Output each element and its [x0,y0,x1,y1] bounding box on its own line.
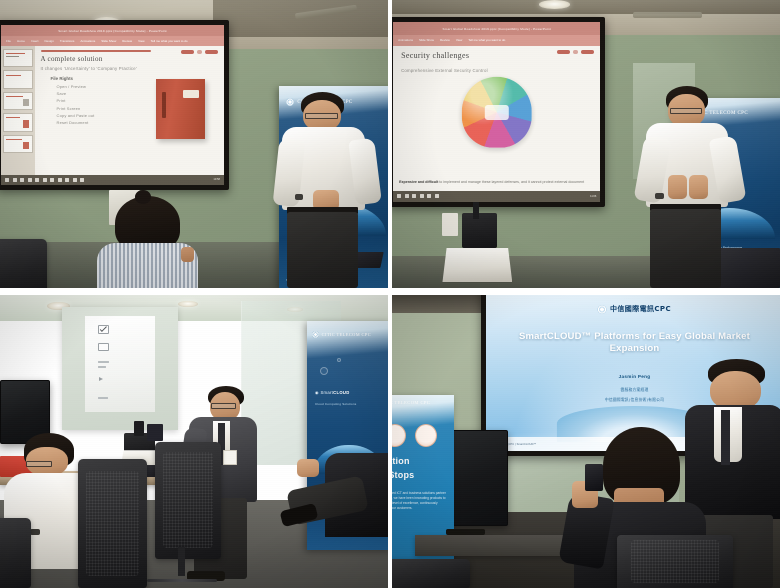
photo-top-right: Smart Global Roadshow 2019.pptx [Compati… [392,0,780,288]
ribbon-tab[interactable]: Slide Show [101,39,116,43]
slide-thumbnail-pane[interactable] [1,46,34,175]
chair [0,518,31,588]
ceiling-dark-strip [213,0,388,37]
taskbar-clock[interactable]: 11:06 [590,195,596,198]
list-icon [98,366,106,368]
ribbon-tab[interactable]: Review [122,39,132,43]
search-icon[interactable] [405,194,409,198]
powerpoint-icon[interactable] [65,178,69,182]
chip [573,50,578,54]
slide-note: Expensive and difficult to implement and… [399,180,594,185]
list-icon [98,397,108,399]
chair-mesh [163,452,213,548]
windows-taskbar[interactable]: 11:06 [393,191,600,203]
powerpoint-window: Smart Global Roadshow 2019.pptx [Compati… [1,25,224,185]
slide-thumbnail[interactable] [3,135,32,153]
browser-icon[interactable] [43,178,47,182]
app-icon[interactable] [58,178,62,182]
ppt-body: Security challenges Comprehensive Extern… [393,46,600,191]
mail-icon[interactable] [35,178,39,182]
chip [557,50,570,54]
glasses-icon [211,403,237,409]
slide-note-rest: to implement and manage these layered de… [439,180,584,184]
citic-logo: 中信國際電訊CPC [598,304,671,314]
wall-mounted-panel [442,213,458,236]
chair-post [178,547,184,576]
list-icon [98,361,109,363]
award-badge [415,424,437,447]
ribbon-tab[interactable]: Slide Show [419,38,434,42]
ribbon-tab-tellme[interactable]: Tell me what you want to do [468,38,505,42]
citic-logo-icon [312,331,319,338]
banner-headline-1: ...vation [392,456,451,466]
gutter-horizontal [0,288,780,295]
award-badge [392,424,406,447]
slide-title: SmartCLOUD™ Platforms for Easy Global Ma… [504,331,765,355]
projector-arm [473,202,479,219]
ppt-titlebar: Smart Global Roadshow 2019.pptx [Compati… [393,22,600,35]
ribbon-tab[interactable]: Animations [80,39,95,43]
ribbon-tab[interactable]: Insert [31,39,39,43]
bubble-decor [337,358,341,362]
ribbon-tab[interactable]: Design [45,39,54,43]
banner-headline-2: ...r Stops [392,470,451,480]
ppt-ribbon: File Home Insert Design Transitions Anim… [1,36,224,46]
security-sphere-graphic [462,77,532,147]
play-icon [99,377,103,381]
taskview-icon[interactable] [20,178,24,182]
photo-top-left: Smart Global Roadshow 2019.pptx [Compati… [0,0,388,288]
ribbon-tab[interactable]: Review [440,38,450,42]
camera-stalk [134,421,144,436]
glasses-icon [26,461,52,467]
name-badge [223,450,237,465]
chair [78,459,148,588]
remote-control [446,529,485,535]
citic-logo-icon [598,305,607,314]
citic-logo-text: 中信國際電訊CPC [610,304,671,314]
photo-collage: Smart Global Roadshow 2019.pptx [Compati… [0,0,780,588]
collage-panel-bottom-left: CITIC TELECOM CPC ◉ SmartCLOUD Cloud Com… [0,295,388,588]
banner-brand-text: CITIC TELECOM CPC [322,332,371,337]
collage-panel-top-right: Smart Global Roadshow 2019.pptx [Compati… [392,0,780,288]
ribbon-tab[interactable]: Home [17,39,25,43]
bubble-decor [320,367,328,375]
app-icon[interactable] [435,194,439,198]
slide-decor-chips [181,50,218,54]
hand-right [689,175,708,199]
ppt-body: A complete solution It changes 'Uncertai… [1,46,224,175]
banner-brand: CITIC TELECOM CPC [392,400,454,405]
attendee-right [295,453,388,588]
banner-brand-text: CITIC TELECOM CPC [392,400,430,405]
wristwatch [655,193,663,199]
chair [155,442,221,559]
slide-canvas: A complete solution It changes 'Uncertai… [35,46,224,175]
app-icon[interactable] [73,178,77,182]
glasses-icon [305,113,338,119]
projector-screen: Smart Global Roadshow 2019.pptx [Compati… [0,20,229,190]
banner-product: ◉ SmartCLOUD [315,390,387,395]
neck [181,247,194,263]
powerpoint-icon[interactable] [427,194,431,198]
hand [297,459,319,478]
ribbon-tab[interactable]: File [6,39,11,43]
chair [617,535,733,588]
slide-title: A complete solution [41,55,218,63]
ceiling-dark-strip [392,0,780,14]
chair [0,239,47,288]
slide-decor-chips [557,50,594,54]
slide-thumbnail[interactable] [3,113,32,131]
chip [205,50,218,54]
ppt-titlebar: Smart Global Roadshow 2019.pptx [Compati… [1,25,224,36]
powerpoint-window: Smart Global Roadshow 2019.pptx [Compati… [393,22,600,202]
slide-subtitle: It changes 'Uncertainty' to 'Company Pra… [41,66,218,71]
projected-slide [85,316,155,413]
banner-brand: CITIC TELECOM CPC [307,331,388,338]
projected-slide: Smart Global Roadshow 2019.pptx [Compati… [1,25,224,185]
projector-screen: Smart Global Roadshow 2019.pptx [Compati… [392,17,605,207]
chair-base [147,579,217,582]
head [710,371,760,410]
photo-bottom-right: 中信國際電訊CPC SmartCLOUD™ Platforms for Easy… [392,295,780,588]
banner-paragraph: As a preferred ICT and business solution… [392,491,449,510]
search-icon[interactable] [13,178,17,182]
checkbox-checked-icon [98,325,109,334]
slide-rule [41,50,151,53]
glasses-icon [670,108,702,114]
app-icon[interactable] [80,178,84,182]
wristwatch [30,529,40,535]
projector-device [462,213,497,248]
explorer-icon[interactable] [412,194,416,198]
windows-taskbar[interactable]: 10:58 [1,175,224,185]
hand-left [668,175,687,199]
ceiling-vent [633,12,703,18]
ribbon-tab-tellme[interactable]: Tell me what you want to do [151,39,188,43]
slide-note-lead: Expensive and difficult [399,180,438,184]
trousers [287,212,359,288]
start-icon[interactable] [5,178,9,182]
sensor [147,424,163,442]
slide-subtitle: Comprehensive External Security Control [401,68,592,73]
chip [197,50,202,54]
banner-product-sub: Cloud Computing Solutions [315,402,387,406]
trousers [650,209,721,288]
collage-panel-bottom-right: 中信國際電訊CPC SmartCLOUD™ Platforms for Easy… [392,295,780,588]
podium [442,248,512,283]
explorer-icon[interactable] [28,178,32,182]
slide-thumbnail[interactable] [3,70,32,88]
ribbon-tab[interactable]: Transitions [60,39,75,43]
slide-thumbnail[interactable] [3,92,32,110]
projected-slide: Smart Global Roadshow 2019.pptx [Compati… [393,22,600,202]
checkbox-icon [98,343,109,352]
chair-mesh [631,540,719,583]
taskbar-clock[interactable]: 10:58 [213,178,220,181]
downlight-icon [539,0,570,9]
app-icon[interactable] [50,178,54,182]
necktie [721,410,730,465]
chip [581,50,594,54]
photo-bottom-left: CITIC TELECOM CPC ◉ SmartCLOUD Cloud Com… [0,295,388,588]
ribbon-tab[interactable]: View [138,39,144,43]
chair [392,559,470,588]
slide-appliance-image [156,79,205,138]
ppt-ribbon: Animations Slide Show Review View Tell m… [393,35,600,46]
chip [181,50,194,54]
slide-canvas: Security challenges Comprehensive Extern… [393,46,600,191]
wristwatch [295,194,303,200]
collage-panel-top-left: Smart Global Roadshow 2019.pptx [Compati… [0,0,388,288]
ribbon-tab[interactable]: View [456,38,462,42]
chair-mesh [86,471,139,577]
hair-tuft [135,190,151,204]
browser-icon[interactable] [420,194,424,198]
slide-thumbnail[interactable] [3,49,32,67]
presenter-person [272,92,381,288]
smartphone [585,464,603,491]
ribbon-tab[interactable]: Animations [398,38,413,42]
start-icon[interactable] [397,194,401,198]
attendee-foreground [97,196,198,288]
presenter-person [636,86,741,288]
